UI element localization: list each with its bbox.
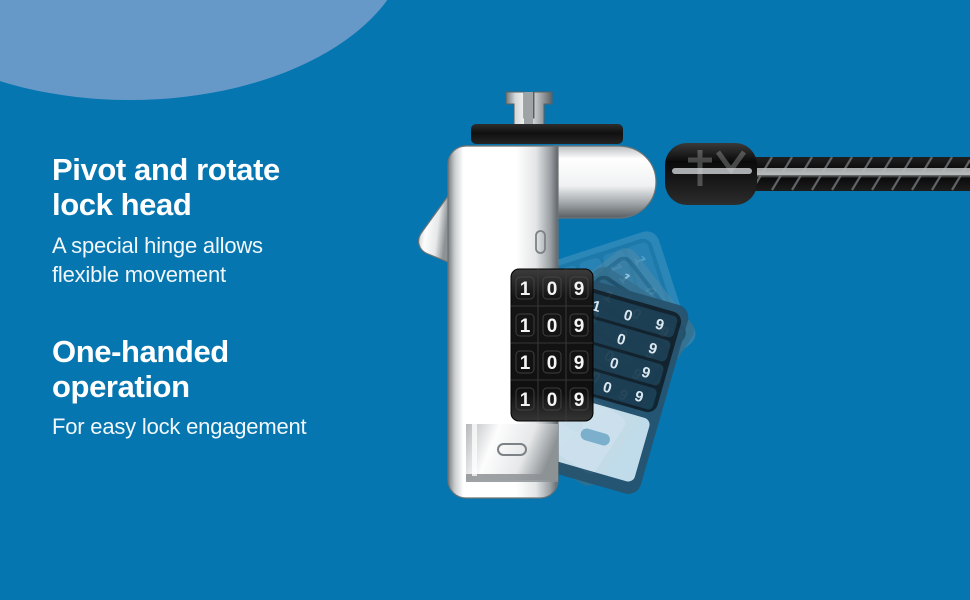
- svg-text:0: 0: [601, 347, 617, 366]
- svg-text:1: 1: [576, 301, 595, 318]
- svg-text:1: 1: [559, 277, 578, 290]
- svg-text:1: 1: [520, 353, 531, 374]
- svg-text:9: 9: [603, 332, 622, 345]
- svg-text:1: 1: [587, 308, 603, 327]
- svg-text:9: 9: [651, 316, 670, 329]
- svg-text:0: 0: [547, 279, 558, 300]
- svg-text:9: 9: [642, 344, 658, 363]
- svg-text:0: 0: [617, 293, 636, 306]
- clamp-jaw: [419, 196, 448, 262]
- svg-text:9: 9: [633, 388, 646, 407]
- svg-text:9: 9: [574, 353, 585, 374]
- release-slot-plate: [466, 424, 558, 482]
- steel-cable: [745, 157, 970, 191]
- svg-text:9: 9: [656, 322, 675, 339]
- svg-text:0: 0: [547, 390, 558, 411]
- svg-text:0: 0: [593, 301, 612, 314]
- svg-text:9: 9: [656, 323, 672, 342]
- svg-text:1: 1: [520, 316, 531, 337]
- witness-hole-bottom: [536, 455, 545, 477]
- svg-text:0: 0: [596, 327, 615, 344]
- svg-text:9: 9: [615, 386, 631, 405]
- combination-dial-bar[interactable]: 109 109 109 109: [511, 269, 593, 421]
- svg-text:0: 0: [636, 296, 655, 313]
- svg-text:0: 0: [641, 285, 660, 298]
- svg-text:1: 1: [600, 287, 616, 306]
- svg-text:0: 0: [628, 305, 644, 324]
- feature-headline-pivot: Pivot and rotate lock head: [52, 152, 412, 223]
- svg-text:9: 9: [627, 324, 646, 337]
- svg-text:1: 1: [630, 254, 649, 267]
- feature-block-pivot: Pivot and rotate lock head A special hin…: [52, 152, 412, 290]
- svg-text:1: 1: [590, 297, 603, 316]
- lock-ghost-1: 109 109 109 109: [524, 276, 691, 497]
- svg-text:0: 0: [622, 306, 635, 325]
- svg-text:0: 0: [614, 326, 630, 345]
- pivot-hinge-arm: [466, 146, 656, 218]
- rubber-pad: [471, 124, 623, 144]
- svg-text:1: 1: [576, 345, 589, 364]
- svg-text:1: 1: [596, 285, 615, 302]
- svg-text:1: 1: [583, 321, 596, 340]
- t-bar-lock-pin: [506, 92, 552, 138]
- brand-mark-icon: [688, 150, 744, 186]
- svg-text:0: 0: [616, 311, 635, 328]
- witness-hole-top: [536, 231, 545, 253]
- svg-text:9: 9: [653, 316, 666, 335]
- svg-text:9: 9: [574, 279, 585, 300]
- svg-text:1: 1: [607, 261, 626, 274]
- svg-text:0: 0: [569, 308, 588, 321]
- svg-text:1: 1: [615, 270, 634, 287]
- svg-text:0: 0: [587, 368, 603, 387]
- svg-text:0: 0: [608, 355, 621, 374]
- release-slot: [498, 444, 526, 455]
- feature-headline-one-handed: One-handed operation: [52, 334, 412, 405]
- svg-text:9: 9: [597, 368, 616, 385]
- background-accent-ellipse: [0, 0, 410, 100]
- feature-subhead-one-handed: For easy lock engagement: [52, 412, 412, 441]
- lock-ghost-4: 109 109 109 109: [469, 228, 692, 401]
- svg-text:9: 9: [574, 390, 585, 411]
- svg-text:9: 9: [636, 337, 655, 354]
- svg-text:9: 9: [640, 364, 653, 383]
- main-lock: 109 109 109 109: [419, 92, 656, 498]
- svg-text:1: 1: [556, 316, 575, 333]
- svg-text:9: 9: [628, 365, 644, 384]
- svg-text:0: 0: [577, 342, 596, 359]
- svg-text:0: 0: [547, 353, 558, 374]
- svg-text:0: 0: [601, 379, 614, 398]
- svg-text:1: 1: [559, 350, 575, 369]
- svg-text:1: 1: [520, 279, 531, 300]
- svg-text:1: 1: [520, 390, 531, 411]
- svg-text:9: 9: [579, 340, 598, 353]
- svg-text:1: 1: [583, 269, 602, 282]
- feature-text-column: Pivot and rotate lock head A special hin…: [52, 152, 412, 442]
- svg-text:9: 9: [646, 340, 659, 359]
- product-feature-banner: 109 109 109 109 109: [0, 0, 970, 600]
- cable-connector: [665, 143, 757, 205]
- svg-text:9: 9: [617, 353, 636, 370]
- svg-text:1: 1: [573, 329, 589, 348]
- svg-text:1: 1: [569, 369, 582, 388]
- lock-body: [448, 146, 558, 498]
- svg-text:0: 0: [547, 316, 558, 337]
- svg-text:0: 0: [615, 331, 628, 350]
- dial-digits: 109 109 109 109: [520, 279, 585, 411]
- feature-subhead-pivot: A special hinge allows flexible movement: [52, 231, 412, 290]
- svg-text:9: 9: [574, 316, 585, 337]
- lock-ghost-3: 109 109 109 109: [474, 243, 701, 457]
- lock-ghost-2: 109 109 109 109: [493, 262, 699, 491]
- feature-block-one-handed: One-handed operation For easy lock engag…: [52, 334, 412, 442]
